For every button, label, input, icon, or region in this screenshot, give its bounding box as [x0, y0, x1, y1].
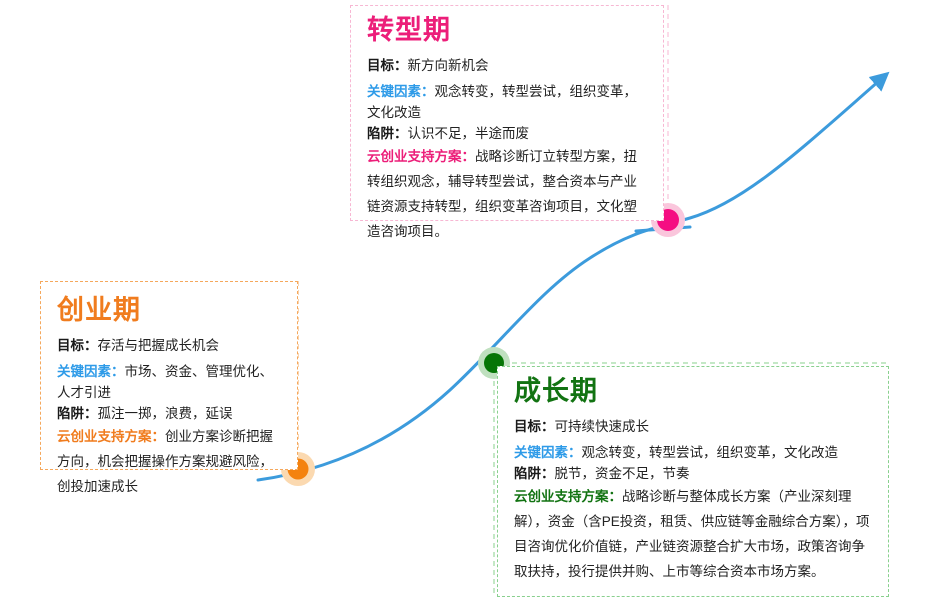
transform-goal-row: 目标：新方向新机会	[367, 55, 649, 76]
label-pitfall: 陷阱：	[57, 406, 98, 421]
transform-keyfactors-row: 关键因素：观念转变，转型尝试，组织变革，文化改造	[367, 81, 649, 123]
label-goal: 目标：	[57, 338, 98, 353]
spacer	[367, 46, 649, 55]
label-key-factors: 关键因素：	[514, 445, 582, 460]
startup-pitfall-row: 陷阱：孤注一掷，浪费，延误	[57, 403, 283, 424]
stage-title-startup: 创业期	[57, 296, 283, 326]
startup-keyfactors-row: 关键因素：市场、资金、管理优化、人才引进	[57, 361, 283, 403]
stage-card-growth[interactable]: 成长期 目标：可持续快速成长 关键因素：观念转变，转型尝试，组织变革，文化改造 …	[497, 366, 889, 597]
transform-goal-value: 新方向新机会	[408, 58, 489, 73]
label-support: 云创业支持方案：	[367, 149, 475, 164]
stage-card-startup[interactable]: 创业期 目标：存活与把握成长机会 关键因素：市场、资金、管理优化、人才引进 陷阱…	[40, 281, 298, 470]
transform-pitfall-row: 陷阱：认识不足，半途而废	[367, 123, 649, 144]
startup-pitfall-value: 孤注一掷，浪费，延误	[98, 406, 233, 421]
growth-pitfall-value: 脱节，资金不足，节奏	[555, 466, 690, 481]
transform-support-row: 云创业支持方案：战略诊断订立转型方案，扭转组织观念，辅导转型尝试，整合资本与产业…	[367, 144, 649, 244]
growth-keyfactors-row: 关键因素：观念转变，转型尝试，组织变革，文化改造	[514, 442, 876, 463]
stage-title-transform: 转型期	[367, 16, 649, 46]
diagram-canvas: 创业期 目标：存活与把握成长机会 关键因素：市场、资金、管理优化、人才引进 陷阱…	[0, 0, 952, 600]
startup-goal-value: 存活与把握成长机会	[98, 338, 220, 353]
startup-goal-row: 目标：存活与把握成长机会	[57, 335, 283, 356]
transform-pitfall-value: 认识不足，半途而废	[408, 126, 530, 141]
label-support: 云创业支持方案：	[57, 429, 165, 444]
label-pitfall: 陷阱：	[367, 126, 408, 141]
spacer	[514, 407, 876, 416]
label-key-factors: 关键因素：	[367, 84, 435, 99]
spacer	[57, 326, 283, 335]
label-support: 云创业支持方案：	[514, 489, 622, 504]
stage-title-growth: 成长期	[514, 377, 876, 407]
growth-goal-value: 可持续快速成长	[555, 419, 650, 434]
growth-keyfactors-value: 观念转变，转型尝试，组织变革，文化改造	[582, 445, 839, 460]
label-goal: 目标：	[514, 419, 555, 434]
stage-card-transform[interactable]: 转型期 目标：新方向新机会 关键因素：观念转变，转型尝试，组织变革，文化改造 陷…	[350, 5, 664, 221]
growth-support-row: 云创业支持方案：战略诊断与整体成长方案（产业深刻理解），资金（含PE投资，租赁、…	[514, 484, 876, 584]
label-goal: 目标：	[367, 58, 408, 73]
growth-pitfall-row: 陷阱：脱节，资金不足，节奏	[514, 463, 876, 484]
growth-goal-row: 目标：可持续快速成长	[514, 416, 876, 437]
label-key-factors: 关键因素：	[57, 364, 125, 379]
label-pitfall: 陷阱：	[514, 466, 555, 481]
startup-support-row: 云创业支持方案：创业方案诊断把握方向，机会把握操作方案规避风险，创投加速成长	[57, 424, 283, 499]
